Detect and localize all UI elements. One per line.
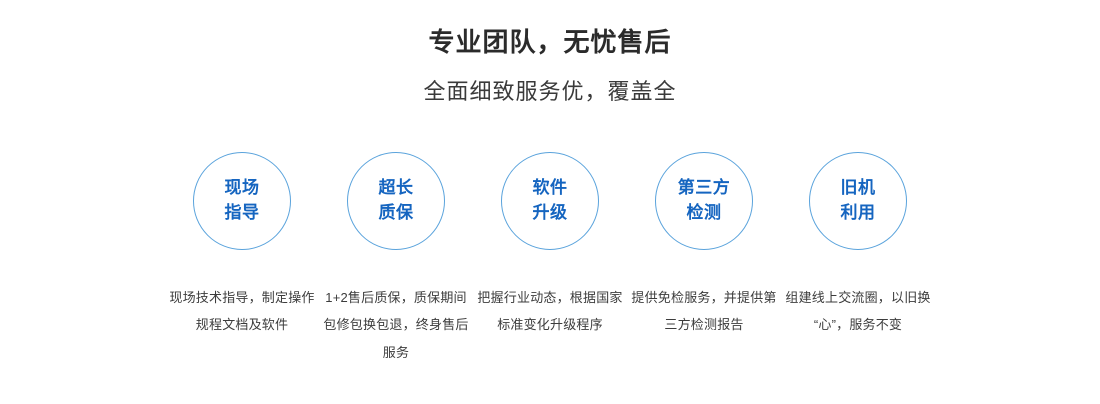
feature-caption-onsite-guidance: 现场技术指导，制定操作规程文档及软件 xyxy=(166,284,318,339)
page-title: 专业团队，无忧售后 xyxy=(0,26,1100,59)
feature-circle-third-party-testing: 第三方 检测 xyxy=(655,152,753,250)
features-row: 现场 指导 现场技术指导，制定操作规程文档及软件 超长 质保 1+2售后质保，质… xyxy=(0,152,1100,366)
feature-caption-extended-warranty: 1+2售后质保，质保期间包修包换包退，终身售后服务 xyxy=(320,284,472,366)
feature-circle-software-upgrade: 软件 升级 xyxy=(501,152,599,250)
feature-item-extended-warranty: 超长 质保 1+2售后质保，质保期间包修包换包退，终身售后服务 xyxy=(319,152,473,366)
feature-circle-label-line2: 质保 xyxy=(379,201,414,226)
feature-item-third-party-testing: 第三方 检测 提供免检服务，并提供第三方检测报告 xyxy=(627,152,781,339)
feature-circle-label-line2: 利用 xyxy=(841,201,876,226)
feature-circle-label-line1: 旧机 xyxy=(841,176,876,201)
feature-circle-old-machine-reuse: 旧机 利用 xyxy=(809,152,907,250)
feature-circle-label-line1: 现场 xyxy=(225,176,260,201)
feature-circle-label-line1: 超长 xyxy=(379,176,414,201)
feature-item-old-machine-reuse: 旧机 利用 组建线上交流圈，以旧换“心”，服务不变 xyxy=(781,152,935,339)
heading-block: 专业团队，无忧售后 全面细致服务优，覆盖全 xyxy=(0,0,1100,106)
feature-caption-software-upgrade: 把握行业动态，根据国家标准变化升级程序 xyxy=(474,284,626,339)
feature-item-onsite-guidance: 现场 指导 现场技术指导，制定操作规程文档及软件 xyxy=(165,152,319,339)
feature-circle-label-line1: 软件 xyxy=(533,176,568,201)
feature-circle-onsite-guidance: 现场 指导 xyxy=(193,152,291,250)
feature-item-software-upgrade: 软件 升级 把握行业动态，根据国家标准变化升级程序 xyxy=(473,152,627,339)
feature-circle-label-line2: 升级 xyxy=(533,201,568,226)
feature-circle-extended-warranty: 超长 质保 xyxy=(347,152,445,250)
service-features-banner: 专业团队，无忧售后 全面细致服务优，覆盖全 现场 指导 现场技术指导，制定操作规… xyxy=(0,0,1100,404)
feature-circle-label-line1: 第三方 xyxy=(678,176,731,201)
feature-caption-third-party-testing: 提供免检服务，并提供第三方检测报告 xyxy=(628,284,780,339)
page-subtitle: 全面细致服务优，覆盖全 xyxy=(0,78,1100,107)
feature-caption-old-machine-reuse: 组建线上交流圈，以旧换“心”，服务不变 xyxy=(782,284,934,339)
feature-circle-label-line2: 检测 xyxy=(687,201,722,226)
feature-circle-label-line2: 指导 xyxy=(225,201,260,226)
